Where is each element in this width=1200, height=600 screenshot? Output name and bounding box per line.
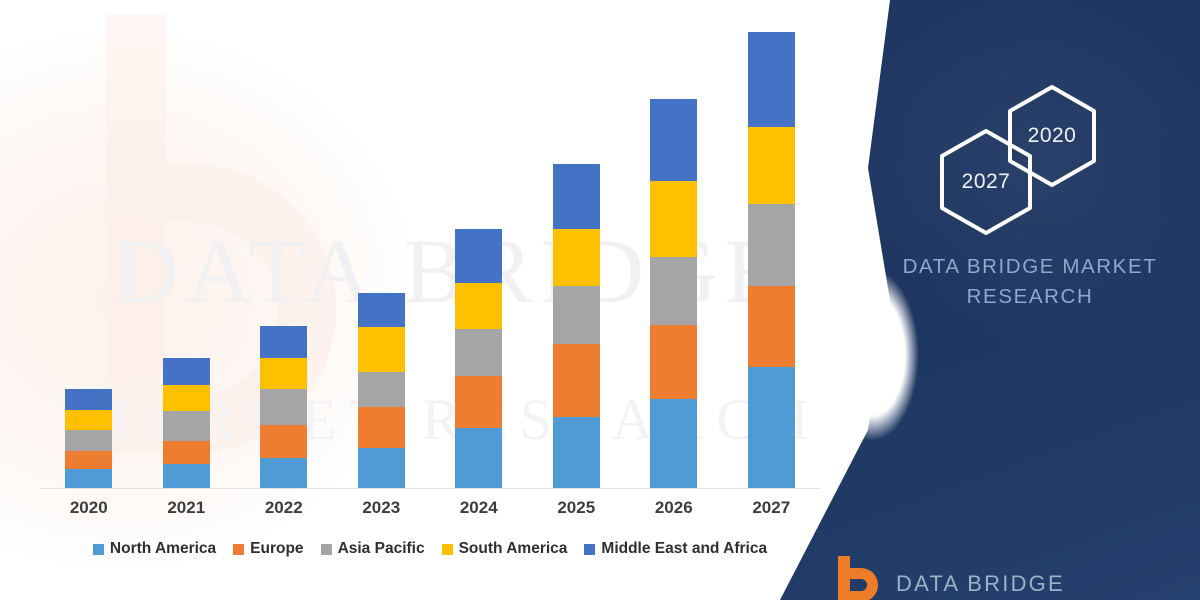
bar-segment <box>553 164 600 228</box>
bar-segment <box>358 293 405 328</box>
footer-logo-text: DATA BRIDGE <box>896 571 1065 600</box>
bar-segment <box>260 326 307 358</box>
x-tick-label: 2020 <box>46 498 132 526</box>
bar-segment <box>260 458 307 488</box>
stacked-bar-chart: 20202021202220232024202520262027 North A… <box>0 0 900 600</box>
legend-label: South America <box>459 540 568 558</box>
x-tick-label: 2023 <box>338 498 424 526</box>
bar-column <box>631 30 717 488</box>
bar-column <box>241 30 327 488</box>
bar-segment <box>455 283 502 329</box>
stacked-bar-2020 <box>65 389 112 488</box>
bar-segment <box>650 399 697 488</box>
stacked-bar-2024 <box>455 229 502 488</box>
bar-segment <box>748 32 795 127</box>
legend-label: North America <box>110 540 216 558</box>
bar-segment <box>748 286 795 367</box>
legend-swatch-icon <box>584 544 595 555</box>
bar-segment <box>260 425 307 458</box>
stacked-bar-2023 <box>358 293 405 488</box>
legend-item[interactable]: South America <box>442 540 568 558</box>
bar-segment <box>65 469 112 488</box>
legend-item[interactable]: North America <box>93 540 216 558</box>
bar-segment <box>455 376 502 427</box>
bar-segment <box>455 329 502 377</box>
infographic-canvas: DATA BRIDGE MARKET RESEARCH 202020212022… <box>0 0 1200 600</box>
x-tick-label: 2025 <box>533 498 619 526</box>
x-tick-label: 2021 <box>143 498 229 526</box>
bar-segment <box>260 358 307 389</box>
bar-segment <box>553 344 600 417</box>
legend-item[interactable]: Middle East and Africa <box>584 540 767 558</box>
bar-segment <box>163 411 210 441</box>
chart-legend: North AmericaEuropeAsia PacificSouth Ame… <box>40 540 820 558</box>
brand-title-line1: DATA BRIDGE MARKET <box>880 252 1180 282</box>
bar-series-container <box>40 30 820 488</box>
x-axis-line <box>40 488 820 489</box>
bar-column <box>533 30 619 488</box>
legend-item[interactable]: Asia Pacific <box>321 540 425 558</box>
bar-segment <box>163 385 210 411</box>
bar-segment <box>65 410 112 431</box>
legend-swatch-icon <box>442 544 453 555</box>
x-tick-label: 2024 <box>436 498 522 526</box>
bar-segment <box>748 127 795 204</box>
bar-segment <box>748 204 795 286</box>
bar-segment <box>748 367 795 488</box>
stacked-bar-2026 <box>650 99 697 488</box>
footer-logo: DATA BRIDGE <box>836 556 1065 600</box>
hexagon-badge-2020: 2020 <box>1006 84 1098 188</box>
legend-label: Middle East and Africa <box>601 540 767 558</box>
bar-segment <box>65 430 112 451</box>
bar-segment <box>163 464 210 488</box>
bar-segment <box>65 451 112 469</box>
bar-column <box>143 30 229 488</box>
data-bridge-logo-icon <box>836 556 882 600</box>
bar-segment <box>553 229 600 287</box>
bar-segment <box>455 428 502 488</box>
bar-segment <box>358 448 405 488</box>
x-tick-label: 2026 <box>631 498 717 526</box>
bar-segment <box>260 389 307 425</box>
legend-swatch-icon <box>321 544 332 555</box>
chart-panel: DATA BRIDGE MARKET RESEARCH 202020212022… <box>0 0 900 600</box>
stacked-bar-2021 <box>163 358 210 488</box>
bar-segment <box>650 257 697 325</box>
bar-segment <box>65 389 112 410</box>
legend-label: Europe <box>250 540 303 558</box>
stacked-bar-2027 <box>748 32 795 488</box>
legend-swatch-icon <box>93 544 104 555</box>
bar-segment <box>553 286 600 344</box>
bar-segment <box>650 181 697 257</box>
stacked-bar-2025 <box>553 164 600 488</box>
hexagon-badge-2020-label: 2020 <box>1028 124 1077 148</box>
bar-segment <box>358 327 405 372</box>
stacked-bar-2022 <box>260 326 307 488</box>
bar-segment <box>553 417 600 488</box>
legend-item[interactable]: Europe <box>233 540 303 558</box>
x-axis-tick-labels: 20202021202220232024202520262027 <box>40 498 820 526</box>
brand-title: DATA BRIDGE MARKET RESEARCH <box>880 252 1180 312</box>
legend-label: Asia Pacific <box>338 540 425 558</box>
hexagon-badge-2027-label: 2027 <box>962 170 1011 194</box>
bar-segment <box>650 325 697 400</box>
x-tick-label: 2027 <box>728 498 814 526</box>
bar-segment <box>358 372 405 407</box>
brand-title-line2: RESEARCH <box>880 282 1180 312</box>
bar-segment <box>163 441 210 464</box>
bar-column <box>728 30 814 488</box>
bar-column <box>338 30 424 488</box>
bar-segment <box>358 407 405 448</box>
bar-segment <box>163 358 210 385</box>
bar-segment <box>650 99 697 181</box>
legend-swatch-icon <box>233 544 244 555</box>
bar-column <box>46 30 132 488</box>
x-tick-label: 2022 <box>241 498 327 526</box>
bar-column <box>436 30 522 488</box>
bar-segment <box>455 229 502 283</box>
